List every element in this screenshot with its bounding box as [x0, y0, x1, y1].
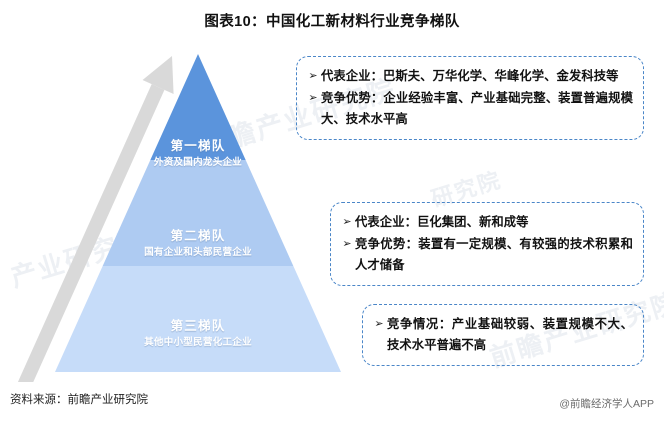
callout-1-bullet-2-text: 竞争优势：企业经验丰富、产业基础完整、装置普遍规模大、技术水平高: [321, 88, 633, 130]
arrow-bullet-icon: ➢: [305, 88, 321, 109]
callout-1-bullet-1-text: 代表企业：巴斯夫、万华化学、华峰化学、金发科技等: [321, 66, 633, 87]
pyramid-tier-1: [150, 54, 245, 160]
callout-2-bullet-1-text: 代表企业：巨化集团、新和成等: [355, 212, 633, 233]
figure-container: 图表10：中国化工新材料行业竞争梯队 前瞻产业研究院 产业研究院 前瞻产业研究院…: [0, 0, 664, 425]
callout-1-bullet-2: ➢ 竞争优势：企业经验丰富、产业基础完整、装置普遍规模大、技术水平高: [305, 88, 633, 130]
callout-3-bullet-1-text: 竞争情况：产业基础较弱、装置规模不大、技术水平普遍不高: [387, 314, 633, 356]
page-title: 图表10：中国化工新材料行业竞争梯队: [0, 12, 664, 32]
diagram-stage: 前瞻产业研究院 产业研究院 前瞻产业研究院 研究院 第一梯队 外资及国内龙头企业…: [0, 42, 664, 382]
brand-attribution: @前瞻经济学人APP: [559, 396, 654, 412]
callout-2-bullet-2-text: 竞争优势：装置有一定规模、有较强的技术积累和人才储备: [355, 234, 633, 276]
callout-3-bullet-1: ➢ 竞争情况：产业基础较弱、装置规模不大、技术水平普遍不高: [371, 314, 633, 356]
arrow-bullet-icon: ➢: [339, 234, 355, 255]
arrow-bullet-icon: ➢: [305, 66, 321, 87]
callout-tier-3: ➢ 竞争情况：产业基础较弱、装置规模不大、技术水平普遍不高: [362, 304, 644, 366]
callout-tier-2: ➢ 代表企业：巨化集团、新和成等 ➢ 竞争优势：装置有一定规模、有较强的技术积累…: [330, 202, 644, 286]
arrow-bullet-icon: ➢: [339, 212, 355, 233]
source-note: 资料来源：前瞻产业研究院: [10, 392, 148, 408]
pyramid-tier-2: [103, 160, 294, 266]
callout-2-bullet-2: ➢ 竞争优势：装置有一定规模、有较强的技术积累和人才储备: [339, 234, 633, 276]
callout-tier-1: ➢ 代表企业：巴斯夫、万华化学、华峰化学、金发科技等 ➢ 竞争优势：企业经验丰富…: [296, 56, 644, 140]
pyramid-tier-3: [55, 266, 341, 372]
callout-2-bullet-1: ➢ 代表企业：巨化集团、新和成等: [339, 212, 633, 233]
callout-1-bullet-1: ➢ 代表企业：巴斯夫、万华化学、华峰化学、金发科技等: [305, 66, 633, 87]
arrow-bullet-icon: ➢: [371, 314, 387, 335]
